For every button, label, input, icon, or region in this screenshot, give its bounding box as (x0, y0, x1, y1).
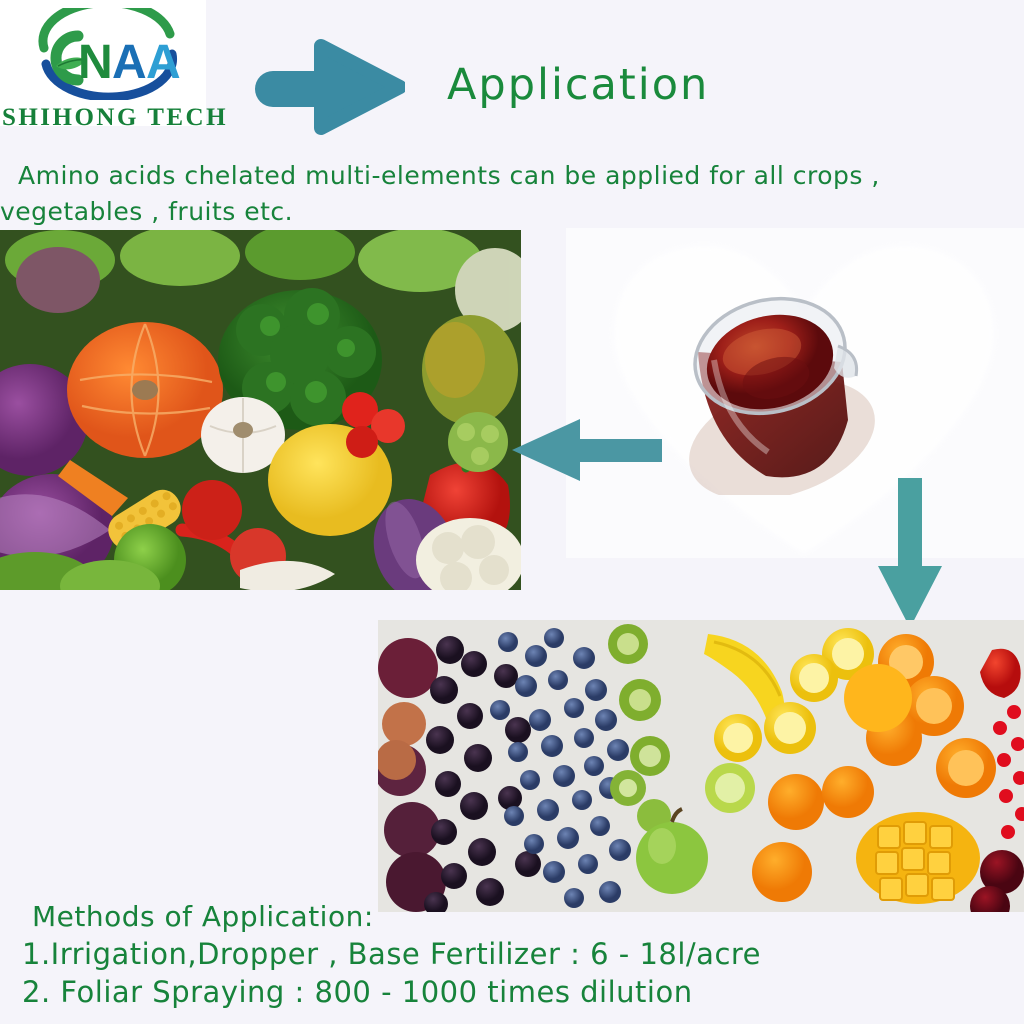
methods-block: Methods of Application: 1.Irrigation,Dro… (22, 900, 922, 1009)
methods-item-2: 2. Foliar Spraying : 800 - 1000 times di… (22, 975, 922, 1009)
svg-text:N: N (78, 36, 113, 89)
intro-line-1: Amino acids chelated multi-elements can … (18, 161, 880, 190)
vegetables-photo (0, 230, 521, 590)
svg-text:A: A (146, 36, 181, 89)
fruits-illustration (378, 620, 1024, 912)
vegetables-illustration (0, 230, 521, 590)
beaker-photo (566, 228, 1024, 558)
methods-item-1: 1.Irrigation,Dropper , Base Fertilizer :… (22, 937, 922, 971)
cnaa-logo-icon: N A A (22, 8, 192, 100)
arrow-right-icon (255, 38, 405, 136)
methods-title: Methods of Application: (32, 900, 922, 933)
arrow-down-icon (876, 478, 944, 630)
fruits-photo (378, 620, 1024, 912)
intro-paragraph: Amino acids chelated multi-elements can … (18, 158, 1008, 231)
svg-text:A: A (112, 36, 147, 89)
page-title: Application (447, 60, 709, 110)
arrow-left-icon (510, 413, 662, 485)
poster-canvas: N A A SHIHONG TECH Application Amino aci… (0, 0, 1024, 1024)
company-name: SHIHONG TECH (0, 104, 230, 132)
beaker-illustration (670, 290, 880, 495)
intro-line-2: vegetables , fruits etc. (0, 194, 1008, 230)
